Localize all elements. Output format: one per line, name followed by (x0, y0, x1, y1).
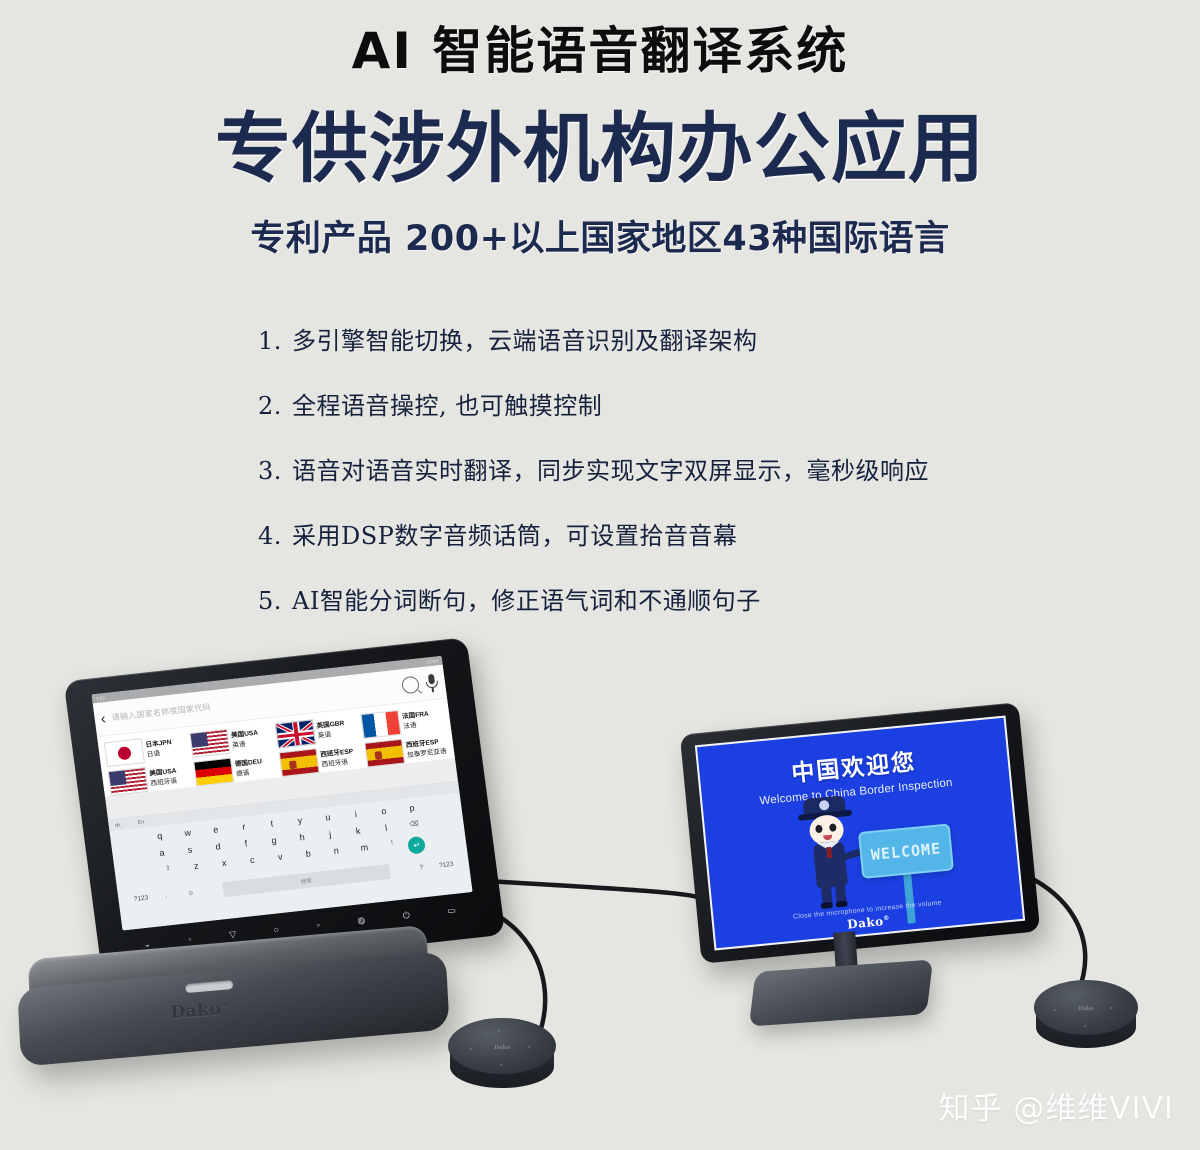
welcome-monitor: 中国欢迎您 Welcome to China Border Inspection… (680, 702, 1040, 964)
desktop-microphone-puck[interactable]: Dako (448, 1018, 556, 1096)
key-y[interactable]: y (287, 814, 313, 827)
status-time-right: 12:04 (426, 658, 438, 664)
enter-key[interactable]: ↵ (407, 836, 426, 855)
search-icon[interactable] (401, 676, 420, 695)
triangle-back-icon[interactable]: ▽ (229, 929, 237, 941)
square-recents-icon[interactable]: ▫ (316, 920, 320, 930)
desktop-microphone-puck[interactable]: Dako (1034, 980, 1138, 1056)
page-subtitle: 专供涉外机构办公应用 (0, 101, 1200, 196)
question-key[interactable]: ? (409, 863, 435, 873)
screenshot-icon[interactable]: ▭ (447, 904, 457, 916)
comma-key[interactable]: , (153, 891, 179, 901)
key-d[interactable]: d (205, 840, 231, 853)
list-item[interactable]: 美国USA 西班牙语 (108, 762, 195, 796)
border-officer-mascot (789, 794, 872, 916)
monitor-brand-name: Dako (847, 914, 885, 931)
key-p[interactable]: p (399, 802, 425, 815)
back-icon[interactable]: ◦ (188, 934, 192, 944)
list-item[interactable]: 英国GBR 英语 (275, 714, 362, 748)
list-item-label: 采用DSP数字音频话筒，可设置拾音音幕 (292, 516, 1018, 551)
key-j[interactable]: j (317, 828, 343, 841)
chevron-left-icon[interactable]: ‹ (100, 711, 107, 726)
key-f[interactable]: f (233, 837, 259, 850)
key-k[interactable]: k (345, 825, 371, 838)
tablet-screen[interactable]: 7:23 12:04 ‹ 请输入国家名称或国家代码 日本JPN 日语 (92, 656, 473, 931)
key-u[interactable]: u (315, 811, 341, 824)
germany-flag (193, 758, 234, 787)
list-item: 1. 多引擎智能切换，云端语音识别及翻译架构 (258, 321, 1018, 356)
list-item-number: 4. (258, 522, 292, 550)
shift-key[interactable]: ⇧ (155, 863, 182, 883)
number-mode-key[interactable]: ?123 (128, 894, 154, 904)
key-b[interactable]: b (295, 847, 322, 867)
page-title: AI 智能语音翻译系统 (0, 24, 1200, 79)
list-item-label: 语音对语音实时翻译，同步实现文字双屏显示，毫秒级响应 (292, 451, 1018, 486)
key-t[interactable]: t (259, 817, 285, 830)
key-q[interactable]: q (147, 830, 173, 843)
key-c[interactable]: c (239, 854, 266, 874)
key-e[interactable]: e (203, 823, 229, 836)
key-i[interactable]: i (343, 808, 369, 821)
puck-brand-label: Dako (448, 1045, 556, 1051)
number-mode-key-right[interactable]: ?123 (433, 860, 459, 870)
key-z[interactable]: z (183, 860, 210, 880)
exclamation-key[interactable]: ! (379, 838, 406, 858)
apps-icon[interactable]: ◍ (357, 914, 366, 926)
monitor-screen[interactable]: 中国欢迎您 Welcome to China Border Inspection… (695, 716, 1025, 951)
key-a[interactable]: a (149, 846, 175, 859)
uk-flag (275, 719, 316, 748)
list-item[interactable]: 美国USA 英语 (189, 724, 276, 758)
welcome-sign: WELCOME (858, 823, 954, 879)
ime-mode-english[interactable]: En (137, 819, 144, 826)
list-item[interactable]: 德国DEU 德语 (193, 753, 280, 787)
feature-list: 1. 多引擎智能切换，云端语音识别及翻译架构 2. 全程语音操控, 也可触摸控制… (258, 321, 1018, 616)
list-item: 2. 全程语音操控, 也可触摸控制 (258, 386, 1018, 421)
list-item: 5. AI智能分词断句，修正语气词和不通顺句子 (258, 581, 1018, 616)
list-item[interactable]: 法国FRA 法语 (360, 705, 447, 739)
list-item-number: 3. (258, 457, 292, 485)
key-s[interactable]: s (177, 843, 203, 856)
list-item[interactable]: 日本JPN 日语 (104, 733, 191, 767)
list-item: 3. 语音对语音实时翻译，同步实现文字双屏显示，毫秒级响应 (258, 451, 1018, 486)
monitor-stand-base (749, 959, 933, 1026)
microphone-icon[interactable] (424, 672, 441, 693)
list-item[interactable]: 西班牙ESP 西班牙语 (279, 743, 366, 777)
flag-language-label: 法语 (403, 719, 431, 731)
page-tagline: 专利产品 200+以上国家地区43种国际语言 (0, 210, 1200, 261)
home-circle-icon[interactable]: ○ (273, 924, 280, 935)
power-icon[interactable]: ⏻ (402, 909, 411, 921)
france-flag (360, 710, 401, 739)
tablet-dock-base: Dako® (16, 923, 451, 1078)
puck-brand-label: Dako (1034, 1006, 1138, 1012)
flag-language-label: 日语 (146, 747, 173, 759)
list-item-number: 2. (258, 392, 292, 420)
list-item-label: 多引擎智能切换，云端语音识别及翻译架构 (292, 321, 1018, 356)
key-n[interactable]: n (323, 844, 350, 864)
key-r[interactable]: r (231, 820, 257, 833)
spain-flag (279, 748, 320, 777)
key-l[interactable]: l (373, 822, 399, 835)
poster-header: AI 智能语音翻译系统 专供涉外机构办公应用 专利产品 200+以上国家地区43… (0, 0, 1200, 261)
monitor-brand-mark: ® (883, 915, 890, 923)
list-item: 4. 采用DSP数字音频话筒，可设置拾音音幕 (258, 516, 1018, 551)
key-v[interactable]: v (267, 850, 294, 870)
key-m[interactable]: m (351, 841, 378, 861)
japan-flag (104, 738, 145, 767)
usa-flag (189, 729, 230, 758)
key-g[interactable]: g (261, 834, 287, 847)
list-item[interactable]: 西班牙ESP 加泰罗尼亚语 (364, 734, 451, 768)
cable-tablet-to-monitor (470, 880, 700, 898)
ime-mode-chinese[interactable]: 中, (114, 820, 122, 829)
key-w[interactable]: w (175, 826, 201, 839)
backspace-key[interactable]: ⌫ (401, 819, 427, 832)
emoji-icon[interactable]: ☺ (178, 888, 204, 898)
list-item-number: 1. (258, 327, 292, 355)
key-o[interactable]: o (371, 805, 397, 818)
watermark: 知乎 @维维VIVI (938, 1083, 1174, 1128)
list-item-number: 5. (258, 587, 292, 615)
dock-brand-mark: ® (221, 1000, 229, 1010)
list-item-label: AI智能分词断句，修正语气词和不通顺句子 (292, 581, 1018, 616)
list-item-label: 全程语音操控, 也可触摸控制 (292, 386, 1018, 421)
product-photo-stage: 7:23 12:04 ‹ 请输入国家名称或国家代码 日本JPN 日语 (0, 640, 1200, 1150)
status-time-left: 7:23 (96, 695, 106, 701)
key-x[interactable]: x (211, 857, 238, 877)
key-h[interactable]: h (289, 831, 315, 844)
usa-flag (108, 767, 149, 796)
spain-flag (364, 739, 405, 768)
